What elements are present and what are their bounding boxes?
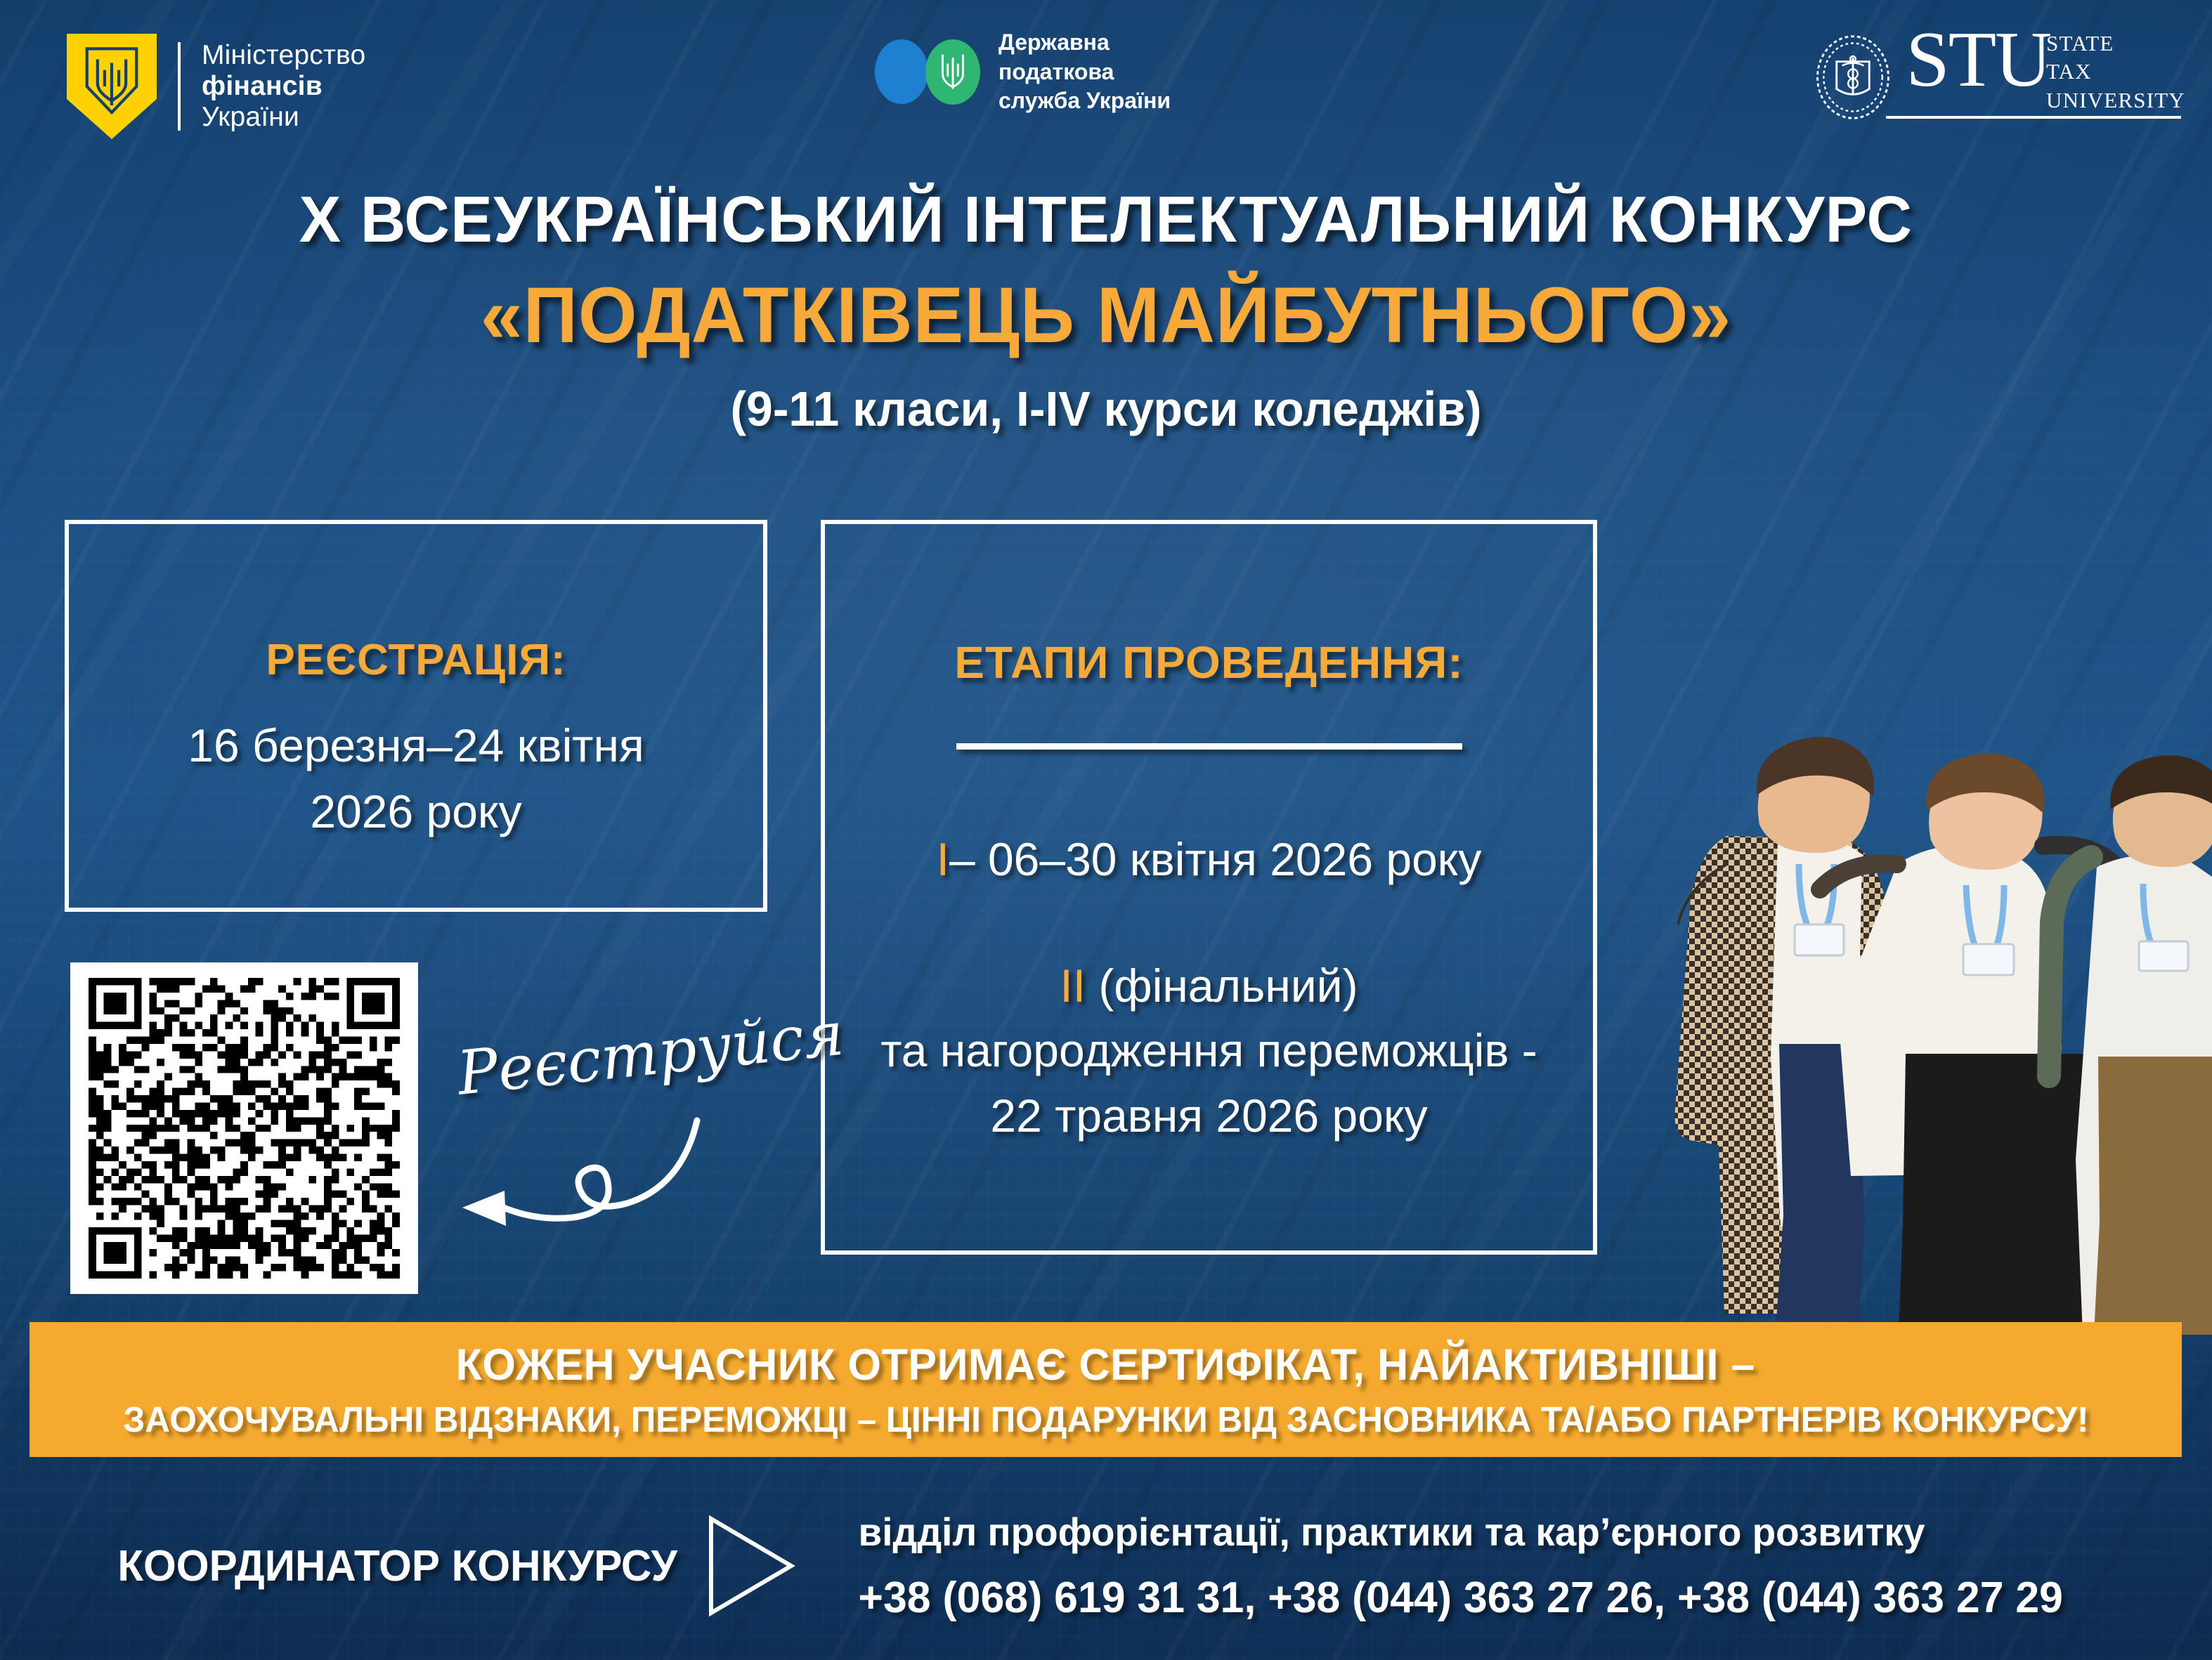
ministry-name: Міністерство фінансів України — [202, 40, 365, 132]
stage-2-text: (фінальний) — [1086, 960, 1358, 1012]
stage-1-numeral: I — [937, 833, 949, 885]
contacts-block: відділ профорієнтації, практики та кар’є… — [846, 1509, 2075, 1623]
university-underline — [1886, 116, 2181, 119]
students-photo-illustration — [1622, 534, 2212, 1335]
register-handwritten-label: Реєструйся — [454, 1005, 783, 1109]
university-seal-icon — [1811, 32, 1894, 123]
logo-state-tax-university: STU STATE TAX UNIVERSITY — [1811, 25, 2185, 130]
trident-glyph — [937, 51, 968, 92]
tax-line-3: служба України — [998, 86, 1171, 116]
registration-dates: 16 березня–24 квітня 2026 року — [69, 713, 763, 844]
tax-line-2: податкова — [998, 58, 1171, 87]
logo-ministry-of-finance: Міністерство фінансів України — [67, 34, 365, 139]
ukraine-trident-shield-icon — [67, 34, 157, 139]
ministry-line-3: України — [202, 102, 365, 133]
coordinator-block: КООРДИНАТОР КОНКУРСУ — [109, 1513, 797, 1619]
tax-line-1: Державна — [998, 28, 1171, 58]
stage-1-text: – 06–30 квітня 2026 року — [949, 833, 1481, 885]
university-abbr: STU — [1906, 25, 2050, 95]
qr-code-icon — [89, 978, 400, 1279]
green-circle-trident-icon — [925, 39, 980, 105]
stages-heading: ЕТАПИ ПРОВЕДЕННЯ: — [825, 636, 1593, 688]
stage-item-2: II (фінальний) та нагородження переможці… — [825, 953, 1593, 1148]
university-words: STATE TAX UNIVERSITY — [2046, 30, 2185, 115]
logo-divider — [178, 42, 181, 131]
curved-arrow-icon — [379, 1101, 703, 1241]
university-word-3: UNIVERSITY — [2046, 86, 2185, 115]
stages-box: ЕТАПИ ПРОВЕДЕННЯ: I– 06–30 квітня 2026 р… — [821, 520, 1597, 1255]
title-line-2: «ПОДАТКІВЕЦЬ МАЙБУТНЬОГО» — [44, 274, 2168, 357]
students-photo — [1622, 534, 2212, 1335]
stages-divider — [956, 743, 1462, 750]
ministry-line-1: Міністерство — [202, 40, 365, 71]
logo-state-tax-service: Державна податкова служба України — [875, 28, 1171, 116]
registration-heading: РЕЄСТРАЦІЯ: — [69, 635, 763, 685]
register-call-to-action: Реєструйся — [457, 1022, 780, 1261]
logo-bar: Міністерство фінансів України — [0, 0, 2212, 151]
stage-2-line-3: 22 травня 2026 року — [825, 1083, 1593, 1148]
coordinator-label: КООРДИНАТОР КОНКУРСУ — [117, 1541, 677, 1591]
tax-service-name: Державна податкова служба України — [998, 28, 1171, 116]
registration-qr-code[interactable] — [70, 962, 418, 1294]
university-word-2: TAX — [2046, 58, 2185, 86]
title-line-1: X ВСЕУКРАЇНСЬКИЙ ІНТЕЛЕКТУАЛЬНИЙ КОНКУРС — [44, 184, 2168, 254]
poster-title-block: X ВСЕУКРАЇНСЬКИЙ ІНТЕЛЕКТУАЛЬНИЙ КОНКУРС… — [0, 184, 2212, 437]
awards-banner: КОЖЕН УЧАСНИК ОТРИМАЄ СЕРТИФІКАТ, НАЙАКТ… — [30, 1322, 2182, 1457]
stage-2-line-2: та нагородження переможців - — [825, 1018, 1593, 1083]
registration-box: РЕЄСТРАЦІЯ: 16 березня–24 квітня 2026 ро… — [65, 520, 767, 912]
stage-2-numeral: II — [1060, 960, 1086, 1012]
title-line-3: (9-11 класи, I-IV курси коледжів) — [33, 381, 2179, 437]
university-word-1: STATE — [2046, 30, 2185, 58]
trident-glyph — [82, 46, 141, 117]
phone-numbers: +38 (068) 619 31 31, +38 (044) 363 27 26… — [859, 1573, 2063, 1623]
tax-service-mark — [875, 39, 980, 105]
department-name: відділ профорієнтації, практики та кар’є… — [859, 1509, 2063, 1555]
registration-dates-line-1: 16 березня–24 квітня — [69, 713, 763, 779]
play-triangle-icon — [704, 1513, 797, 1619]
stage-item-1: I– 06–30 квітня 2026 року — [825, 832, 1593, 886]
poster-canvas: Міністерство фінансів України — [0, 0, 2212, 1660]
blue-circle-icon — [875, 39, 928, 104]
footer-contacts: КООРДИНАТОР КОНКУРСУ відділ профорієнтац… — [0, 1472, 2212, 1660]
registration-dates-line-2: 2026 року — [69, 779, 763, 845]
banner-line-2: ЗАОХОЧУВАЛЬНІ ВІДЗНАКИ, ПЕРЕМОЖЦІ – ЦІНН… — [123, 1399, 2088, 1440]
banner-line-1: КОЖЕН УЧАСНИК ОТРИМАЄ СЕРТИФІКАТ, НАЙАКТ… — [456, 1340, 1755, 1390]
ministry-line-2: фінансів — [202, 71, 365, 102]
